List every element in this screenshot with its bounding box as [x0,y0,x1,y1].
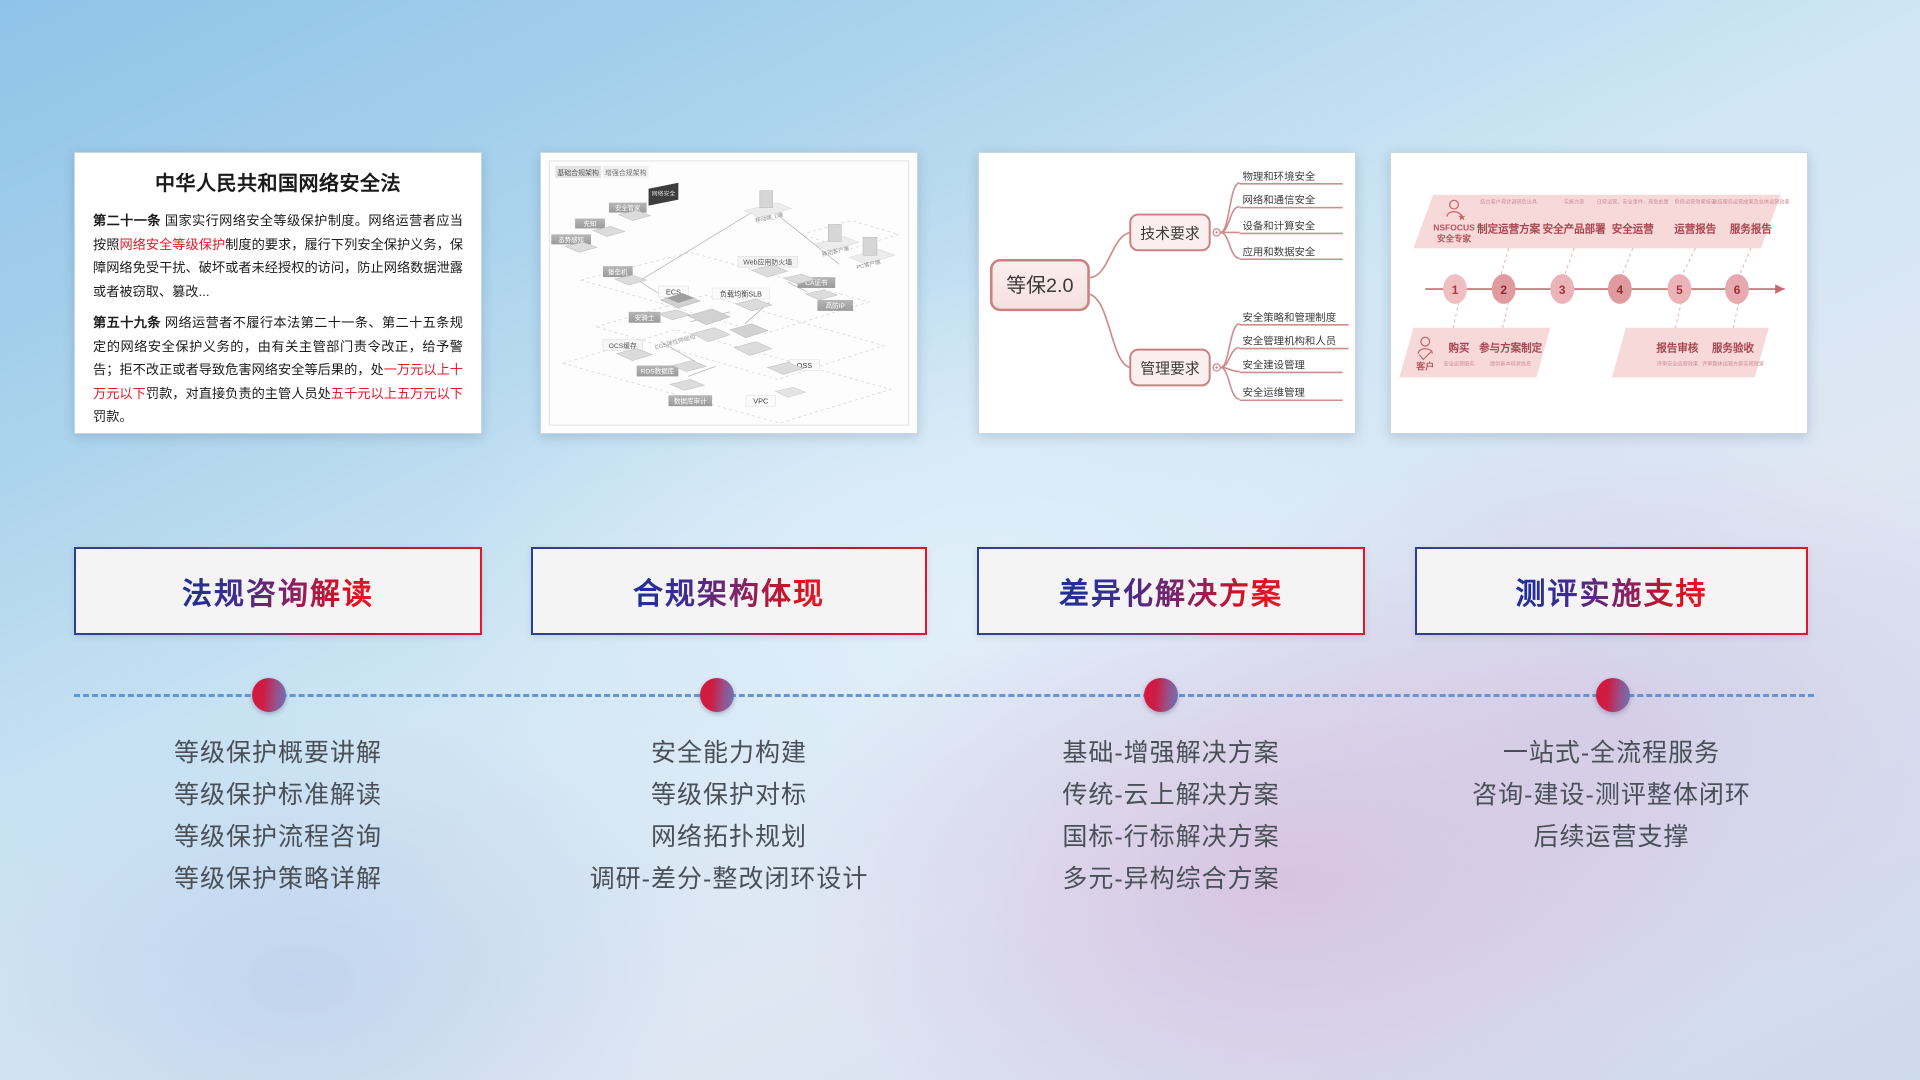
roadmap-bottom-title-3: 服务验收 [1712,342,1755,355]
arch-label-9: Web应用防火墙 [743,257,792,266]
roadmap-step-6-label: 6 [1734,283,1741,297]
section-box-1-label: 合规架构体现 [633,569,825,613]
law-card-title: 中华人民共和国网络安全法 [93,167,463,196]
detail-item: 等级保护概要讲解 [74,732,482,774]
detail-item: 国标-行标解决方案 [977,816,1365,858]
slide-root: 中华人民共和国网络安全法 第二十一条 国家实行网络安全等级保护制度。网络运营者应… [0,0,1920,1080]
detail-item: 等级保护对标 [531,774,927,816]
detail-column-3: 一站式-全流程服务 咨询-建设-测评整体闭环 后续运营支撑 [1415,732,1808,858]
detail-column-1: 安全能力构建 等级保护对标 网络拓扑规划 调研-差分-整改闭环设计 [531,732,927,900]
roadmap-bottom-sub-0: 安全运营服务 [1444,359,1475,367]
roadmap-step-4-label: 4 [1617,283,1624,297]
detail-item: 网络拓扑规划 [531,816,927,858]
mindmap-leaf-1-2: 安全建设管理 [1242,358,1305,371]
detail-column-2: 基础-增强解决方案 传统-云上解决方案 国标-行标解决方案 多元-异构综合方案 [977,732,1365,900]
mindmap-leaf-0-2: 设备和计算安全 [1242,219,1315,232]
mindmap-root[interactable]: 等保2.0 [991,260,1088,310]
detail-item: 后续运营支撑 [1415,816,1808,858]
arch-label-7: RDS数据库 [641,367,675,376]
timeline [0,660,1920,720]
timeline-dot-1[interactable] [700,678,734,712]
preview-card-row: 中华人民共和国网络安全法 第二十一条 国家实行网络安全等级保护制度。网络运营者应… [0,0,1920,470]
arch-label-6: OCS缓存 [609,341,637,350]
roadmap-step-3-label: 3 [1559,283,1566,297]
architecture-diagram: 基础合规架构 增强合规架构 [541,153,917,433]
law-article-59-number: 第五十九条 [93,315,161,330]
arch-label-2: 态势感知 [558,235,583,244]
roadmap-bottom-title-2: 报告审核 [1656,342,1699,355]
card-nsfocus-roadmap[interactable]: NSFOCUS 安全专家 结合客户现状调研后出具 制定运营方案 实施方案 安全产… [1390,152,1808,434]
law-article-59-seg-3: 五千元以上五万元以下 [331,386,463,401]
detail-item: 传统-云上解决方案 [977,774,1365,816]
section-box-3-label: 测评实施支持 [1516,569,1708,613]
roadmap-top-sub-0: 结合客户现状调研后出具 [1480,198,1537,206]
law-article-21-seg-1: 网络安全等级保护 [119,237,225,252]
law-article-59-seg-2: 罚款，对直接负责的主管人员处 [146,386,331,401]
detail-column-0: 等级保护概要讲解 等级保护标准解读 等级保护流程咨询 等级保护策略详解 [74,732,482,900]
mindmap-branch-1-label: 管理要求 [1140,360,1200,377]
section-box-0-label: 法规咨询解读 [182,569,374,613]
roadmap-bottom-steps: 购买 安全运营服务 参与方案制定 提供基本现状信息 报告审核 评审安全运营效果 … [1444,342,1764,368]
roadmap-customer-label: 客户 [1415,360,1434,371]
detail-item: 等级保护策略详解 [74,858,482,900]
mindmap-leaf-0-0: 物理和环境安全 [1242,170,1315,183]
roadmap-bottom-sub-1: 提供基本现状信息 [1490,359,1531,367]
roadmap-top-title-3: 运营报告 [1674,222,1717,235]
roadmap-bottom-title-1: 参与方案制定 [1479,342,1543,355]
law-article-59: 第五十九条 网络运营者不履行本法第二十一条、第二十五条规定的网络安全保护义务的，… [93,311,463,429]
card-cloud-architecture[interactable]: 基础合规架构 增强合规架构 [540,152,918,434]
section-box-3[interactable]: 测评实施支持 [1415,547,1808,635]
card-mindmap-dengbao[interactable]: 等保2.0 技术要求 [978,152,1356,434]
detail-item: 基础-增强解决方案 [977,732,1365,774]
section-box-1[interactable]: 合规架构体现 [531,547,927,635]
timeline-dot-2[interactable] [1144,678,1178,712]
arch-tab-0-label: 基础合规架构 [557,168,599,177]
detail-item: 一站式-全流程服务 [1415,732,1808,774]
mindmap-root-label: 等保2.0 [1006,275,1073,297]
detail-columns: 等级保护概要讲解 等级保护标准解读 等级保护流程咨询 等级保护策略详解 安全能力… [0,732,1920,992]
law-article-59-seg-4: 罚款。 [93,409,133,424]
section-box-2[interactable]: 差异化解决方案 [977,547,1365,635]
section-headline-row: 法规咨询解读 合规架构体现 差异化解决方案 测评实施支持 [0,547,1920,639]
mindmap-branch-0[interactable]: 技术要求 [1130,215,1220,251]
law-article-21-number: 第二十一条 [93,213,161,228]
arch-dark-banner-label: 网络安全 [652,190,676,198]
roadmap-diagram: NSFOCUS 安全专家 结合客户现状调研后出具 制定运营方案 实施方案 安全产… [1391,153,1807,433]
roadmap-top-sub-4: 总结服务运营成果及总体运营效果 [1712,198,1789,206]
roadmap-step-5-label: 5 [1676,283,1683,297]
arch-tab-1-label: 增强合规架构 [605,168,647,177]
mindmap-leaf-0-1: 网络和通信安全 [1242,194,1315,207]
card-cybersecurity-law[interactable]: 中华人民共和国网络安全法 第二十一条 国家实行网络安全等级保护制度。网络运营者应… [74,152,482,434]
detail-item: 多元-异构综合方案 [977,858,1365,900]
timeline-dot-0[interactable] [252,678,286,712]
law-article-21: 第二十一条 国家实行网络安全等级保护制度。网络运营者应当按照网络安全等级保护制度… [93,209,463,303]
roadmap-expert-line1: NSFOCUS [1433,222,1475,232]
detail-item: 安全能力构建 [531,732,927,774]
arch-label-18: VPC [753,397,769,406]
roadmap-top-sub-3: 阶段运营效果报告 [1675,198,1716,206]
arch-label-3: 堡垒机 [608,267,628,276]
roadmap-top-title-0: 制定运营方案 [1477,222,1541,235]
arch-label-5: 安骑士 [635,313,655,322]
roadmap-top-sub-1: 实施方案 [1564,198,1585,206]
mindmap-leaf-1-3: 安全运维管理 [1242,386,1305,399]
mindmap-branch-1-leaves: 安全策略和管理制度 安全管理机构和人员 安全建设管理 安全运维管理 [1239,311,1348,400]
mindmap-branch-1[interactable]: 管理要求 [1130,350,1220,386]
roadmap-bottom-title-0: 购买 [1448,342,1470,355]
detail-item: 调研-差分-整改闭环设计 [531,858,927,900]
roadmap-top-title-1: 安全产品部署 [1543,222,1607,235]
mindmap-leaf-1-0: 安全策略和管理制度 [1242,311,1336,324]
section-box-0[interactable]: 法规咨询解读 [74,547,482,635]
arch-label-1: 先知 [584,219,597,228]
roadmap-expert-line2: 安全专家 [1437,233,1472,243]
mindmap-branch-0-leaves: 物理和环境安全 网络和通信安全 设备和计算安全 应用和数据安全 [1239,170,1342,259]
arch-label-8: 数据库审计 [674,396,707,405]
mindmap-diagram: 等保2.0 技术要求 [979,153,1355,433]
arch-label-12: 高防IP [826,301,846,310]
roadmap-step-2-label: 2 [1500,283,1507,297]
roadmap-bottom-sub-3: 评审整体运营方案实现效果 [1702,359,1764,367]
timeline-dashed-line [74,694,1814,697]
roadmap-top-title-2: 安全运营 [1612,222,1655,235]
mindmap-branch-0-label: 技术要求 [1140,225,1200,242]
roadmap-bottom-sub-2: 评审安全运营效果 [1657,359,1698,367]
section-box-2-label: 差异化解决方案 [1059,569,1283,613]
mindmap-leaf-0-3: 应用和数据安全 [1242,245,1315,258]
detail-item: 等级保护流程咨询 [74,816,482,858]
detail-item: 等级保护标准解读 [74,774,482,816]
roadmap-top-title-4: 服务报告 [1730,222,1773,235]
timeline-dot-3[interactable] [1596,678,1630,712]
detail-item: 咨询-建设-测评整体闭环 [1415,774,1808,816]
roadmap-top-sub-2: 日常运营、安全事件、高危处置 [1597,198,1669,206]
mindmap-leaf-1-1: 安全管理机构和人员 [1242,335,1336,348]
arch-label-10: 负载均衡SLB [720,289,762,298]
roadmap-step-1-label: 1 [1452,283,1459,297]
